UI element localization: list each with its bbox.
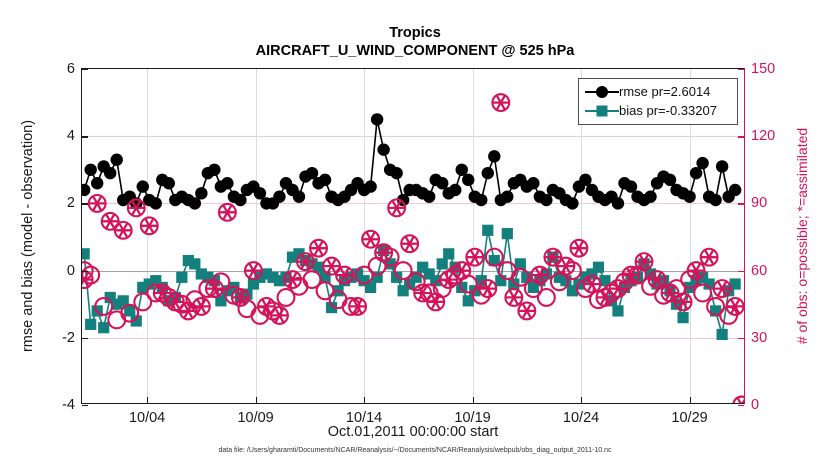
obs-assimilated-marker xyxy=(232,289,249,306)
obs-assimilated-marker xyxy=(466,249,483,266)
obs-assimilated-marker xyxy=(141,217,158,234)
obs-assimilated-marker xyxy=(688,262,705,279)
y-axis-left-tick xyxy=(82,69,88,70)
chart-figure: Tropics AIRCRAFT_U_WIND_COMPONENT @ 525 … xyxy=(0,0,830,470)
obs-assimilated-marker xyxy=(518,303,535,320)
y-axis-left-tick-label: 0 xyxy=(67,263,75,279)
obs-assimilated-marker xyxy=(336,267,353,284)
x-axis-tick xyxy=(256,397,257,403)
obs-assimilated-marker xyxy=(675,294,692,311)
x-axis-tick xyxy=(581,397,582,403)
obs-assimilated-marker xyxy=(557,258,574,275)
data-file-caption: data file: /Users/gharamti/Documents/NCA… xyxy=(0,447,830,454)
obs-assimilated-marker xyxy=(649,271,666,288)
legend-item[interactable]: rmse pr=2.6014 xyxy=(585,82,731,101)
obs-assimilated-marker xyxy=(701,249,718,266)
obs-assimilated-marker xyxy=(401,235,418,252)
y-axis-left-title: rmse and bias (model - observation) xyxy=(18,68,38,404)
y-axis-left-tick xyxy=(82,136,88,137)
y-axis-left-tick-label: -2 xyxy=(62,330,75,346)
y-axis-right-tick xyxy=(738,405,744,406)
obs-assimilated-marker xyxy=(219,204,236,221)
y-axis-right-tick-label: 150 xyxy=(751,61,775,77)
obs-assimilated-marker xyxy=(89,195,106,212)
y-axis-right-tick xyxy=(738,136,744,137)
obs-assimilated-marker xyxy=(362,231,379,248)
obs-assimilated-marker xyxy=(584,276,601,293)
obs-assimilated-marker xyxy=(727,298,744,315)
obs-assimilated-marker xyxy=(245,262,262,279)
obs-assimilated-marker xyxy=(284,271,301,288)
chart-legend: rmse pr=2.6014bias pr=-0.33207 xyxy=(578,78,738,125)
obs-assimilated-marker xyxy=(388,199,405,216)
y-axis-left-tick xyxy=(82,271,88,272)
obs-assimilated-marker xyxy=(453,262,470,279)
obs-assimilated-marker xyxy=(427,294,444,311)
legend-square-icon xyxy=(585,104,619,118)
obs-assimilated-marker xyxy=(571,240,588,257)
y-axis-right-tick-label: 90 xyxy=(751,195,767,211)
x-axis-tick xyxy=(147,397,148,403)
y-axis-right-tick-label: 30 xyxy=(751,330,767,346)
y-axis-right-tick xyxy=(738,69,744,70)
legend-item[interactable]: bias pr=-0.33207 xyxy=(585,101,731,120)
obs-assimilated-marker xyxy=(271,307,288,324)
y-axis-right-tick-label: 0 xyxy=(751,397,759,413)
x-axis-tick xyxy=(364,397,365,403)
y-axis-left-tick xyxy=(82,203,88,204)
legend-circle-icon xyxy=(585,85,619,99)
obs-assimilated-marker xyxy=(623,267,640,284)
obs-assimilated-marker xyxy=(531,267,548,284)
y-axis-left-tick-label: -4 xyxy=(62,397,75,413)
y-axis-left-tick xyxy=(82,338,88,339)
y-axis-left-tick-label: 4 xyxy=(67,128,75,144)
x-axis-tick xyxy=(690,397,691,403)
obs-assimilated-marker xyxy=(349,298,366,315)
obs-assimilated-marker xyxy=(206,280,223,297)
y-axis-right-tick xyxy=(738,271,744,272)
y-axis-right-tick xyxy=(738,203,744,204)
y-axis-left-tick-label: 6 xyxy=(67,61,75,77)
legend-marker xyxy=(596,86,608,98)
obs-assimilated-marker xyxy=(479,280,496,297)
obs-assimilated-marker xyxy=(636,253,653,270)
legend-label: rmse pr=2.6014 xyxy=(619,84,710,99)
chart-title-sub: AIRCRAFT_U_WIND_COMPONENT @ 525 hPa xyxy=(0,43,830,59)
y-axis-left-tick xyxy=(82,405,88,406)
legend-marker xyxy=(597,105,608,116)
obs-assimilated-marker xyxy=(82,271,93,288)
obs-assimilated-marker xyxy=(714,280,731,297)
x-axis-title: Oct.01,2011 00:00:00 start xyxy=(81,424,745,440)
chart-title-main: Tropics xyxy=(0,25,830,41)
obs-assimilated-marker xyxy=(297,253,314,270)
y-axis-left-tick-label: 2 xyxy=(67,195,75,211)
legend-label: bias pr=-0.33207 xyxy=(619,103,717,118)
y-axis-right-title: # of obs: o=possible; *=assimilated xyxy=(792,68,812,404)
obs-assimilated-marker xyxy=(492,94,509,111)
y-axis-right-tick xyxy=(738,338,744,339)
obs-assimilated-marker xyxy=(128,199,145,216)
obs-assimilated-marker xyxy=(610,280,627,297)
obs-assimilated-marker xyxy=(193,298,210,315)
y-axis-right-tick-label: 60 xyxy=(751,263,767,279)
obs-assimilated-marker xyxy=(115,222,132,239)
y-axis-right-tick-label: 120 xyxy=(751,128,775,144)
obs-assimilated-marker xyxy=(505,289,522,306)
x-axis-tick xyxy=(473,397,474,403)
obs-assimilated-marker xyxy=(310,240,327,257)
obs-assimilated-marker xyxy=(733,397,744,403)
obs-assimilated-marker xyxy=(375,244,392,261)
